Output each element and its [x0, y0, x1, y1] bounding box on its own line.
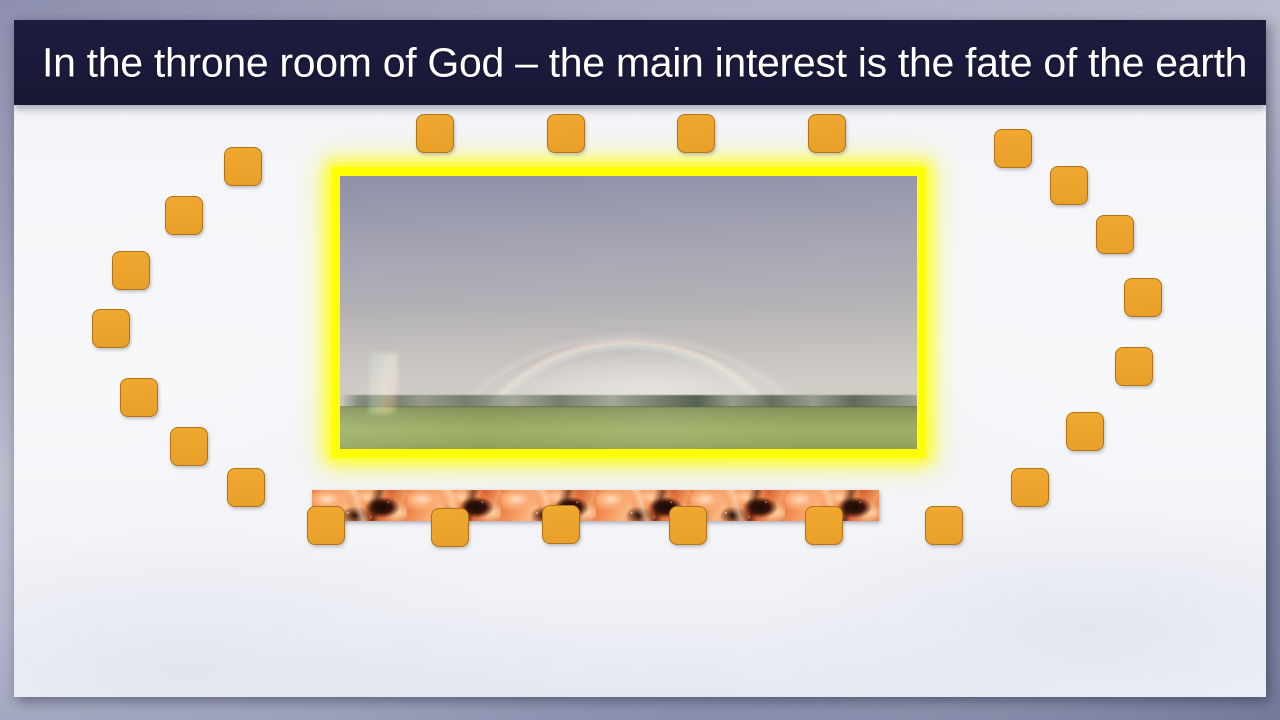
orange-square-bottom-row[interactable] [542, 505, 580, 544]
orange-square-bottom-row[interactable] [805, 506, 843, 545]
distant-treeline [340, 395, 917, 407]
orange-square-top-row[interactable] [416, 114, 454, 153]
fire-texture-strip[interactable] [312, 490, 879, 521]
orange-square-top-row[interactable] [808, 114, 846, 153]
orange-square-right-arc[interactable] [994, 129, 1032, 168]
orange-square-right-arc[interactable] [1096, 215, 1134, 254]
green-field [340, 406, 917, 449]
rainbow-photo [340, 176, 917, 449]
orange-square-bottom-row[interactable] [669, 506, 707, 545]
orange-square-left-arc[interactable] [227, 468, 265, 507]
orange-square-right-arc[interactable] [1050, 166, 1088, 205]
orange-square-bottom-row[interactable] [925, 506, 963, 545]
slideshow-viewer: In the throne room of God – the main int… [0, 0, 1280, 720]
orange-square-left-arc[interactable] [170, 427, 208, 466]
slide-title-bar: In the throne room of God – the main int… [14, 20, 1266, 105]
presentation-slide: In the throne room of God – the main int… [14, 20, 1266, 697]
orange-square-left-arc[interactable] [120, 378, 158, 417]
orange-square-right-arc[interactable] [1115, 347, 1153, 386]
orange-square-top-row[interactable] [547, 114, 585, 153]
orange-square-left-arc[interactable] [165, 196, 203, 235]
orange-square-bottom-row[interactable] [307, 506, 345, 545]
orange-square-left-arc[interactable] [92, 309, 130, 348]
orange-square-right-arc[interactable] [1066, 412, 1104, 451]
rainbow-image-frame[interactable] [331, 167, 926, 458]
orange-square-right-arc[interactable] [1011, 468, 1049, 507]
orange-square-right-arc[interactable] [1124, 278, 1162, 317]
orange-square-left-arc[interactable] [112, 251, 150, 290]
slide-title-text: In the throne room of God – the main int… [42, 39, 1247, 86]
orange-square-top-row[interactable] [677, 114, 715, 153]
rainbow-foot [369, 353, 398, 413]
orange-square-left-arc[interactable] [224, 147, 262, 186]
orange-square-bottom-row[interactable] [431, 508, 469, 547]
